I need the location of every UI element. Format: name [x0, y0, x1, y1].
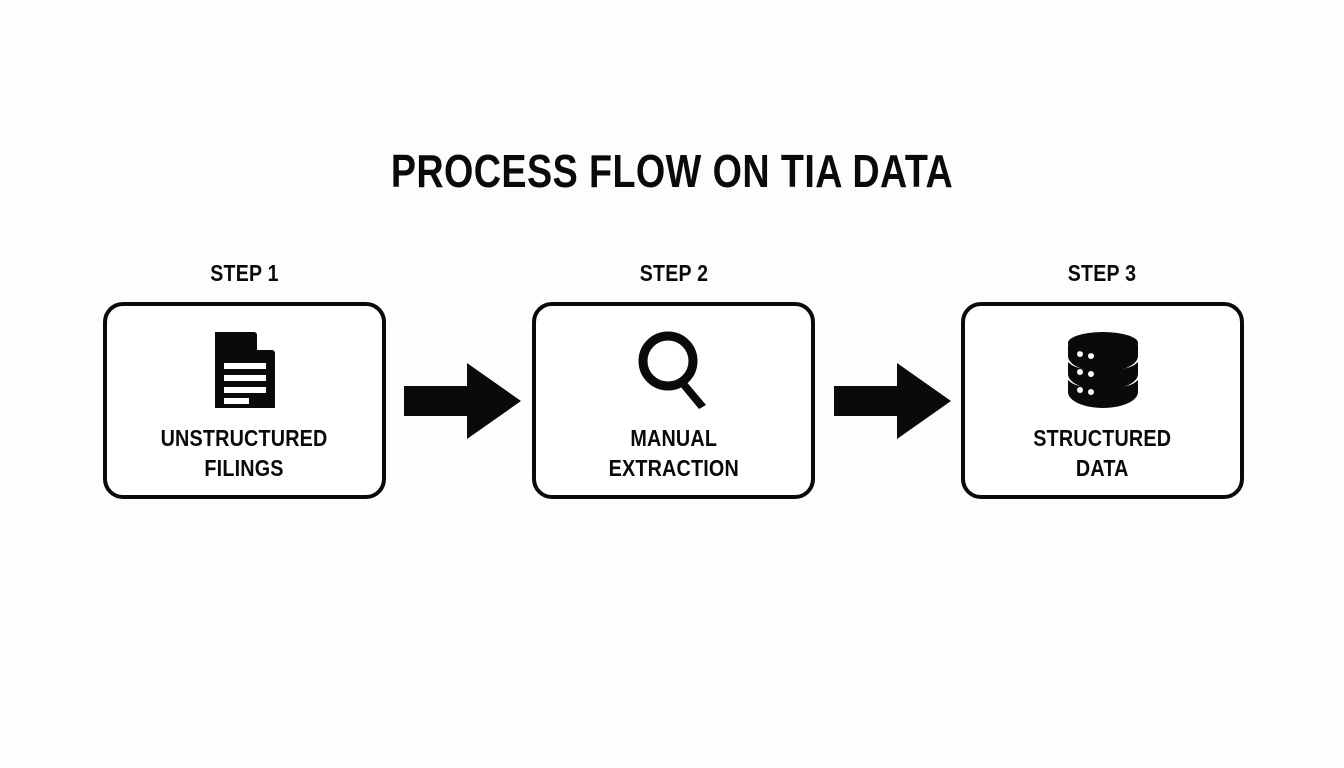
diagram-canvas: PROCESS FLOW ON TIA DATA STEP 1 UNSTRUCT…: [0, 0, 1344, 768]
document-icon: [215, 332, 275, 408]
connector-1: [404, 363, 521, 444]
step-3-label: STEP 3: [982, 262, 1222, 285]
step-3-caption: STRUCTURED DATA: [1033, 423, 1171, 484]
step-3-caption-line2: DATA: [1033, 453, 1171, 483]
connector-2: [834, 363, 951, 444]
diagram-title: PROCESS FLOW ON TIA DATA: [121, 148, 1223, 194]
step-3-caption-line1: STRUCTURED: [1033, 423, 1171, 453]
step-2-caption-line2: EXTRACTION: [608, 453, 738, 483]
step-2-box[interactable]: MANUAL EXTRACTION: [532, 302, 815, 499]
step-1-caption-line1: UNSTRUCTURED: [161, 423, 328, 453]
arrow-right-icon: [834, 363, 951, 439]
step-1-box[interactable]: UNSTRUCTURED FILINGS: [103, 302, 386, 499]
step-2-caption-line1: MANUAL: [608, 423, 738, 453]
arrow-right-icon: [404, 363, 521, 439]
magnifying-glass-icon: [638, 331, 710, 409]
step-2-group: STEP 2 MANUAL EXTRACTION: [532, 262, 816, 499]
step-1-caption-line2: FILINGS: [161, 453, 328, 483]
step-1-caption: UNSTRUCTURED FILINGS: [161, 423, 328, 484]
step-3-icon-wrap: [1066, 324, 1140, 416]
step-3-box[interactable]: STRUCTURED DATA: [961, 302, 1244, 499]
step-3-group: STEP 3: [961, 262, 1243, 499]
step-2-icon-wrap: [638, 324, 710, 416]
step-2-caption: MANUAL EXTRACTION: [608, 423, 738, 484]
step-1-label: STEP 1: [124, 262, 365, 285]
step-1-icon-wrap: [215, 324, 275, 416]
step-1-group: STEP 1 UNSTRUCTURED FILINGS: [103, 262, 386, 499]
database-icon: [1066, 330, 1140, 410]
step-2-label: STEP 2: [553, 262, 794, 285]
